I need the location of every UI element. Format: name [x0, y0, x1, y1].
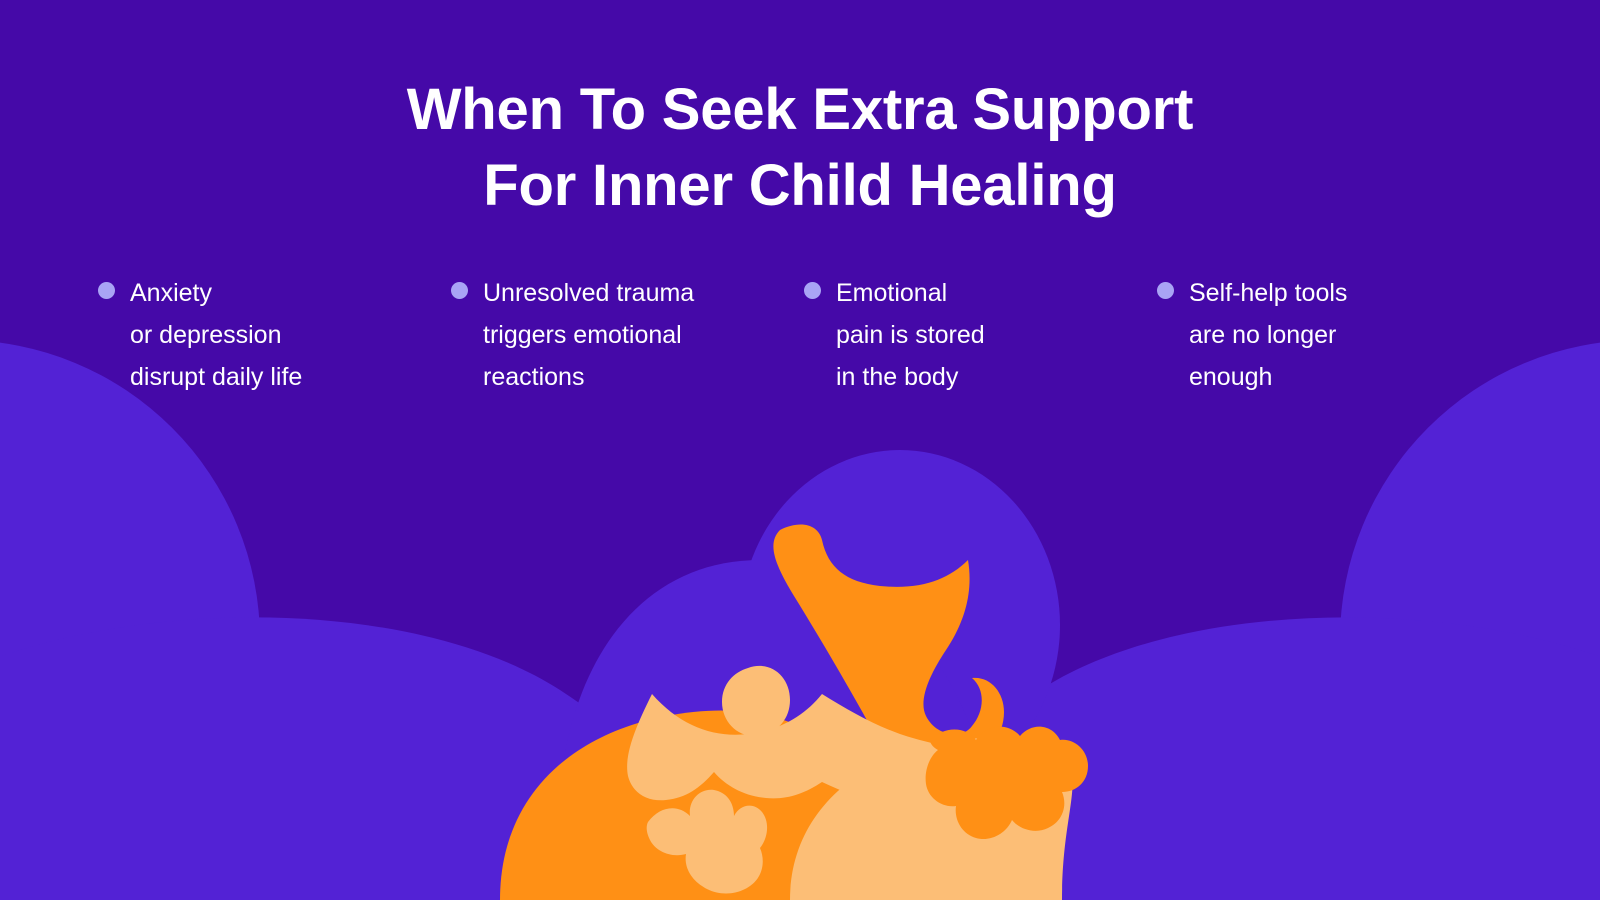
- slide-canvas: When To Seek Extra Support For Inner Chi…: [0, 0, 1600, 900]
- bullet-dot-icon: [98, 282, 115, 299]
- bullet-text-2: Unresolved trauma triggers emotional rea…: [483, 272, 694, 398]
- bullet-dot-icon: [451, 282, 468, 299]
- title-line-1: When To Seek Extra Support: [0, 72, 1600, 148]
- bullet-list: Anxiety or depression disrupt daily life…: [98, 272, 1518, 398]
- bullet-item-1: Anxiety or depression disrupt daily life: [98, 272, 451, 398]
- title-line-2: For Inner Child Healing: [0, 148, 1600, 224]
- page-title: When To Seek Extra Support For Inner Chi…: [0, 72, 1600, 224]
- bullet-dot-icon: [804, 282, 821, 299]
- bullet-text-4: Self-help tools are no longer enough: [1189, 272, 1347, 398]
- bullet-item-4: Self-help tools are no longer enough: [1157, 272, 1510, 398]
- bullet-text-1: Anxiety or depression disrupt daily life: [130, 272, 302, 398]
- bullet-item-3: Emotional pain is stored in the body: [804, 272, 1157, 398]
- bullet-item-2: Unresolved trauma triggers emotional rea…: [451, 272, 804, 398]
- bullet-dot-icon: [1157, 282, 1174, 299]
- slide-content: When To Seek Extra Support For Inner Chi…: [0, 0, 1600, 900]
- bullet-text-3: Emotional pain is stored in the body: [836, 272, 985, 398]
